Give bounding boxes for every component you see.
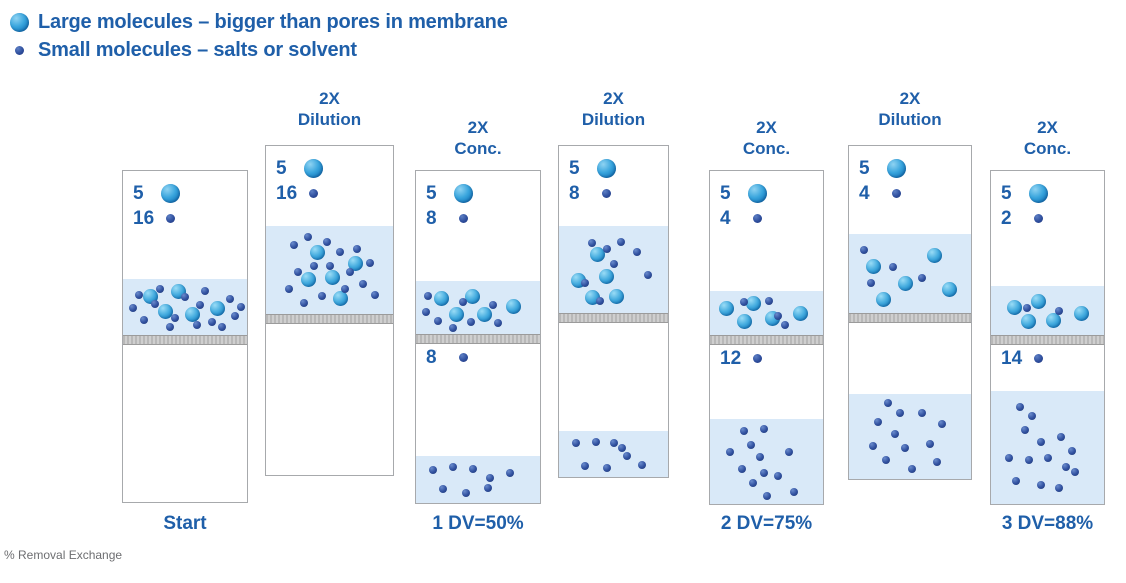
small-molecule-particle <box>760 469 768 477</box>
small-molecule-particle <box>774 312 782 320</box>
vessel-dilution-2: 58 <box>558 145 669 478</box>
stage-title-conc-1: 2X Conc. <box>415 117 541 159</box>
stage-title-dilution-1: 2X Dilution <box>265 88 394 130</box>
small-molecule-particle <box>1037 438 1045 446</box>
stage-dilution-2: 2X Dilution58 <box>558 0 669 583</box>
small-molecule-particle <box>359 280 367 288</box>
large-molecule-particle <box>1021 314 1036 329</box>
retentate-liquid <box>416 281 540 334</box>
small-molecule-particle <box>1005 454 1013 462</box>
small-molecule-particle <box>156 285 164 293</box>
large-molecule-particle <box>434 291 449 306</box>
membrane <box>710 335 823 345</box>
small-molecule-particle <box>592 438 600 446</box>
retentate-small-count: 8 <box>426 208 452 230</box>
permeate-counts: 8 <box>426 345 473 370</box>
vessel-dilution-1: 516 <box>265 145 394 476</box>
large-molecule-particle <box>866 259 881 274</box>
permeate-liquid <box>710 419 823 505</box>
small-molecule-dot-icon <box>459 214 468 223</box>
retentate-counts: 516 <box>276 156 323 206</box>
small-molecule-particle <box>459 298 467 306</box>
small-molecule-dot-icon <box>753 354 762 363</box>
small-molecule-particle <box>790 488 798 496</box>
small-molecule-particle <box>763 492 771 500</box>
retentate-large-count-row: 5 <box>859 156 906 181</box>
retentate-large-count: 5 <box>276 158 302 180</box>
retentate-small-count-row: 4 <box>720 206 767 231</box>
small-molecule-particle <box>896 409 904 417</box>
membrane <box>849 313 971 323</box>
large-molecule-particle <box>1007 300 1022 315</box>
small-molecule-particle <box>341 285 349 293</box>
vessel-conc-3: 5214 <box>990 170 1105 505</box>
retentate-liquid <box>559 226 668 313</box>
small-molecule-particle <box>933 458 941 466</box>
small-molecule-dot-icon <box>15 46 24 55</box>
retentate-large-count: 5 <box>859 158 885 180</box>
small-molecule-dot-icon <box>309 189 318 198</box>
retentate-liquid <box>123 279 247 335</box>
large-molecule-dot-icon <box>887 159 906 178</box>
small-molecule-particle <box>603 245 611 253</box>
retentate-small-count: 16 <box>133 208 159 230</box>
large-molecule-dot-icon <box>161 184 180 203</box>
small-molecule-particle <box>494 319 502 327</box>
small-molecule-particle <box>326 262 334 270</box>
membrane <box>559 313 668 323</box>
small-molecule-particle <box>366 259 374 267</box>
retentate-small-count-row: 8 <box>569 181 616 206</box>
large-molecule-particle <box>746 296 761 311</box>
large-molecule-particle <box>942 282 957 297</box>
small-molecule-particle <box>208 318 216 326</box>
small-molecule-particle <box>336 248 344 256</box>
retentate-small-count-row: 8 <box>426 206 473 231</box>
small-molecule-particle <box>860 246 868 254</box>
small-molecule-particle <box>151 300 159 308</box>
membrane <box>266 314 393 324</box>
small-molecule-particle <box>506 469 514 477</box>
small-molecule-particle <box>581 462 589 470</box>
large-molecule-dot-icon <box>304 159 323 178</box>
large-molecule-particle <box>449 307 464 322</box>
small-molecule-particle <box>760 425 768 433</box>
permeate-small-count-row: 12 <box>720 346 767 371</box>
small-molecule-particle <box>1062 463 1070 471</box>
small-molecule-particle <box>774 472 782 480</box>
large-molecule-particle <box>719 301 734 316</box>
small-molecule-particle <box>610 260 618 268</box>
large-molecule-particle <box>927 248 942 263</box>
small-molecule-particle <box>644 271 652 279</box>
large-molecule-dot-icon <box>10 13 29 32</box>
small-molecule-dot-icon <box>1034 354 1043 363</box>
stage-title-conc-3: 2X Conc. <box>990 117 1105 159</box>
small-molecule-particle <box>300 299 308 307</box>
small-molecule-particle <box>926 440 934 448</box>
retentate-large-count-row: 5 <box>276 156 323 181</box>
stage-footer-conc-1: 1 DV=50% <box>415 513 541 535</box>
small-molecule-dot-icon <box>459 353 468 362</box>
small-molecule-particle <box>193 321 201 329</box>
small-molecule-particle <box>1025 456 1033 464</box>
small-molecule-particle <box>218 323 226 331</box>
small-molecule-particle <box>304 233 312 241</box>
retentate-large-count: 5 <box>720 183 746 205</box>
small-molecule-particle <box>353 245 361 253</box>
small-molecule-particle <box>765 297 773 305</box>
small-molecule-particle <box>1044 454 1052 462</box>
stage-dilution-1: 2X Dilution516 <box>265 0 394 583</box>
vessel-conc-1: 588 <box>415 170 541 504</box>
small-molecule-dot-icon <box>753 214 762 223</box>
small-molecule-particle <box>785 448 793 456</box>
small-molecule-particle <box>581 279 589 287</box>
stage-footer-start: Start <box>122 513 248 535</box>
small-molecule-particle <box>181 293 189 301</box>
small-molecule-particle <box>1028 412 1036 420</box>
stage-title-dilution-2: 2X Dilution <box>558 88 669 130</box>
small-molecule-dot-icon <box>602 189 611 198</box>
large-molecule-dot-icon <box>597 159 616 178</box>
large-molecule-particle <box>185 307 200 322</box>
retentate-small-count-row: 4 <box>859 181 906 206</box>
large-molecule-particle <box>477 307 492 322</box>
small-molecule-particle <box>1016 403 1024 411</box>
small-molecule-particle <box>572 439 580 447</box>
retentate-counts: 58 <box>569 156 616 206</box>
retentate-large-count-row: 5 <box>1001 181 1048 206</box>
small-molecule-particle <box>596 297 604 305</box>
small-molecule-particle <box>489 301 497 309</box>
small-molecule-particle <box>882 456 890 464</box>
small-molecule-particle <box>638 461 646 469</box>
small-molecule-particle <box>1012 477 1020 485</box>
permeate-small-count-row: 8 <box>426 345 473 370</box>
small-molecule-particle <box>429 466 437 474</box>
large-molecule-particle <box>898 276 913 291</box>
large-molecule-dot-icon <box>454 184 473 203</box>
large-molecule-particle <box>1031 294 1046 309</box>
small-molecule-particle <box>889 263 897 271</box>
small-molecule-particle <box>318 292 326 300</box>
small-molecule-particle <box>1068 447 1076 455</box>
retentate-large-count-row: 5 <box>426 181 473 206</box>
small-molecule-particle <box>1037 481 1045 489</box>
retentate-large-count: 5 <box>1001 183 1027 205</box>
small-molecule-particle <box>196 301 204 309</box>
small-molecule-particle <box>1057 433 1065 441</box>
stage-dilution-3: 2X Dilution54 <box>848 0 972 583</box>
small-molecule-particle <box>610 439 618 447</box>
large-molecule-particle <box>876 292 891 307</box>
small-molecule-particle <box>290 241 298 249</box>
small-molecule-particle <box>1071 468 1079 476</box>
small-molecule-particle <box>749 479 757 487</box>
small-molecule-particle <box>891 430 899 438</box>
small-molecule-dot-icon <box>892 189 901 198</box>
small-molecule-particle <box>726 448 734 456</box>
large-molecule-dot-icon <box>748 184 767 203</box>
permeate-counts: 12 <box>720 346 767 371</box>
small-molecule-particle <box>285 285 293 293</box>
retentate-liquid <box>991 286 1104 335</box>
large-molecule-particle <box>609 289 624 304</box>
small-molecule-particle <box>294 268 302 276</box>
small-molecule-particle <box>884 399 892 407</box>
large-molecule-particle <box>1046 313 1061 328</box>
small-molecule-particle <box>201 287 209 295</box>
stage-title-conc-2: 2X Conc. <box>709 117 824 159</box>
large-molecule-particle <box>793 306 808 321</box>
retentate-counts: 54 <box>859 156 906 206</box>
small-molecule-particle <box>623 452 631 460</box>
small-molecule-particle <box>434 317 442 325</box>
large-molecule-particle <box>325 270 340 285</box>
membrane <box>123 335 247 345</box>
small-molecule-particle <box>918 274 926 282</box>
small-molecule-particle <box>467 318 475 326</box>
retentate-large-count-row: 5 <box>133 181 180 206</box>
small-molecule-particle <box>1055 484 1063 492</box>
large-molecule-particle <box>301 272 316 287</box>
stage-conc-3: 2X Conc.52143 DV=88% <box>990 0 1105 583</box>
vessel-dilution-3: 54 <box>848 145 972 480</box>
permeate-small-count: 12 <box>720 348 746 370</box>
small-molecule-particle <box>439 485 447 493</box>
retentate-large-count-row: 5 <box>569 156 616 181</box>
retentate-liquid <box>710 291 823 335</box>
small-molecule-particle <box>371 291 379 299</box>
vessel-conc-2: 5412 <box>709 170 824 505</box>
large-molecule-particle <box>210 301 225 316</box>
permeate-liquid <box>991 391 1104 505</box>
removal-exchange-note: % Removal Exchange <box>4 548 122 562</box>
large-molecule-particle <box>465 289 480 304</box>
small-molecule-particle <box>129 304 137 312</box>
small-molecule-particle <box>901 444 909 452</box>
vessel-start: 516 <box>122 170 248 503</box>
retentate-small-count: 16 <box>276 183 302 205</box>
small-molecule-particle <box>1021 426 1029 434</box>
small-molecule-particle <box>486 474 494 482</box>
small-molecule-particle <box>231 312 239 320</box>
retentate-small-count: 8 <box>569 183 595 205</box>
small-molecule-particle <box>869 442 877 450</box>
small-molecule-particle <box>938 420 946 428</box>
small-molecule-particle <box>469 465 477 473</box>
small-molecule-particle <box>449 463 457 471</box>
small-molecule-particle <box>166 323 174 331</box>
small-molecule-particle <box>422 308 430 316</box>
small-molecule-dot-icon <box>1034 214 1043 223</box>
permeate-small-count: 14 <box>1001 348 1027 370</box>
permeate-liquid <box>559 431 668 478</box>
permeate-small-count-row: 14 <box>1001 346 1048 371</box>
small-molecule-particle <box>908 465 916 473</box>
small-molecule-particle <box>756 453 764 461</box>
retentate-large-count: 5 <box>426 183 452 205</box>
large-molecule-particle <box>506 299 521 314</box>
large-molecule-particle <box>310 245 325 260</box>
small-molecule-particle <box>918 409 926 417</box>
permeate-liquid <box>849 394 971 480</box>
small-molecule-particle <box>867 279 875 287</box>
stage-title-dilution-3: 2X Dilution <box>848 88 972 130</box>
small-molecule-particle <box>462 489 470 497</box>
small-molecule-particle <box>588 239 596 247</box>
retentate-small-count: 4 <box>720 208 746 230</box>
small-molecule-particle <box>484 484 492 492</box>
permeate-small-count: 8 <box>426 347 452 369</box>
permeate-counts: 14 <box>1001 346 1048 371</box>
small-molecule-particle <box>740 427 748 435</box>
membrane <box>416 334 540 344</box>
large-molecule-particle <box>737 314 752 329</box>
stage-conc-1: 2X Conc.5881 DV=50% <box>415 0 541 583</box>
large-molecule-particle <box>333 291 348 306</box>
small-molecule-dot-icon <box>166 214 175 223</box>
small-molecule-particle <box>738 465 746 473</box>
small-molecule-particle <box>226 295 234 303</box>
retentate-small-count-row: 16 <box>133 206 180 231</box>
permeate-liquid <box>416 456 540 504</box>
retentate-large-count: 5 <box>569 158 595 180</box>
retentate-large-count-row: 5 <box>720 181 767 206</box>
retentate-small-count-row: 16 <box>276 181 323 206</box>
retentate-counts: 516 <box>133 181 180 231</box>
retentate-counts: 54 <box>720 181 767 231</box>
small-molecule-particle <box>1055 307 1063 315</box>
small-molecule-particle <box>618 444 626 452</box>
retentate-small-count: 2 <box>1001 208 1027 230</box>
small-molecule-particle <box>633 248 641 256</box>
large-molecule-particle <box>1074 306 1089 321</box>
small-molecule-particle <box>781 321 789 329</box>
stage-conc-2: 2X Conc.54122 DV=75% <box>709 0 824 583</box>
retentate-small-count: 4 <box>859 183 885 205</box>
small-molecule-particle <box>237 303 245 311</box>
small-molecule-particle <box>346 268 354 276</box>
large-molecule-particle <box>599 269 614 284</box>
stage-start: 516Start <box>122 0 248 583</box>
small-molecule-particle <box>140 316 148 324</box>
retentate-small-count-row: 2 <box>1001 206 1048 231</box>
small-molecule-particle <box>1023 304 1031 312</box>
small-molecule-particle <box>603 464 611 472</box>
retentate-liquid <box>849 234 971 313</box>
small-molecule-particle <box>874 418 882 426</box>
large-molecule-dot-icon <box>1029 184 1048 203</box>
small-molecule-particle <box>323 238 331 246</box>
stage-footer-conc-2: 2 DV=75% <box>709 513 824 535</box>
retentate-liquid <box>266 226 393 314</box>
retentate-counts: 52 <box>1001 181 1048 231</box>
retentate-large-count: 5 <box>133 183 159 205</box>
membrane <box>991 335 1104 345</box>
stage-footer-conc-3: 3 DV=88% <box>990 513 1105 535</box>
small-molecule-particle <box>310 262 318 270</box>
small-molecule-particle <box>617 238 625 246</box>
small-molecule-particle <box>135 291 143 299</box>
retentate-counts: 58 <box>426 181 473 231</box>
small-molecule-particle <box>747 441 755 449</box>
small-molecule-particle <box>449 324 457 332</box>
small-molecule-particle <box>171 314 179 322</box>
small-molecule-particle <box>424 292 432 300</box>
